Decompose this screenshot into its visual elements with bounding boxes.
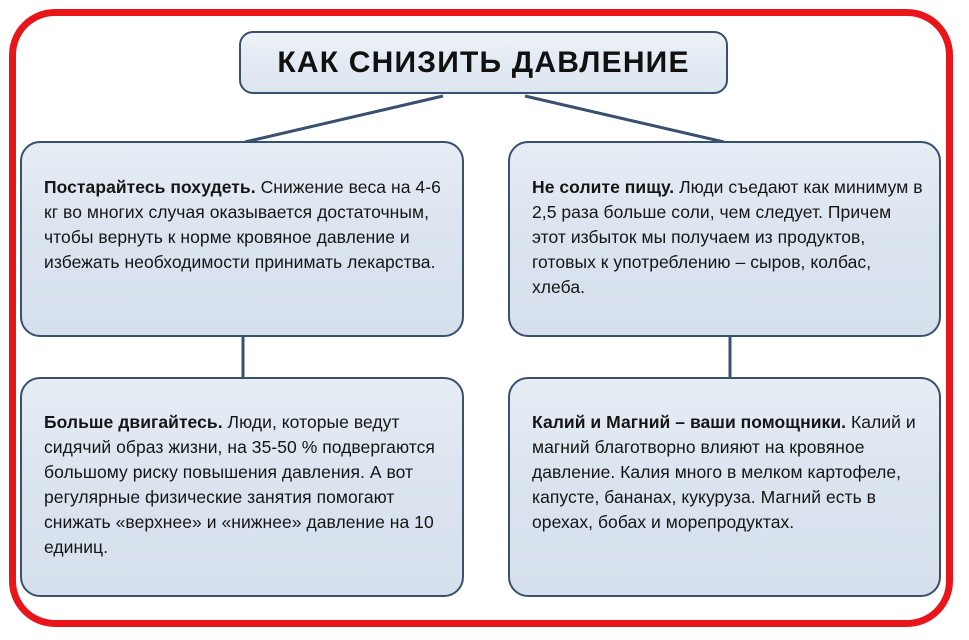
tip-lead: Постарайтесь похудеть.: [44, 177, 256, 197]
infographic-poster: КАК СНИЗИТЬ ДАВЛЕНИЕ Постарайтесь похуде…: [0, 0, 969, 640]
tip-body: Люди, которые ведут сидячий образ жизни,…: [44, 412, 435, 558]
tip-text: Не солите пищу. Люди съедают как минимум…: [532, 175, 923, 301]
tip-text: Больше двигайтесь. Люди, которые ведут с…: [44, 410, 446, 561]
tip-card-potassium-magnesium: Калий и Магний – ваши помощники. Калий и…: [508, 377, 941, 597]
tip-card-move-more: Больше двигайтесь. Люди, которые ведут с…: [20, 377, 464, 597]
tip-card-do-not-salt: Не солите пищу. Люди съедают как минимум…: [508, 141, 941, 337]
tip-text: Постарайтесь похудеть. Снижение веса на …: [44, 175, 446, 276]
tip-lead: Калий и Магний – ваши помощники.: [532, 412, 846, 432]
tip-lead: Больше двигайтесь.: [44, 412, 223, 432]
poster-title: КАК СНИЗИТЬ ДАВЛЕНИЕ: [277, 46, 689, 80]
tip-text: Калий и Магний – ваши помощники. Калий и…: [532, 410, 923, 536]
tip-card-lose-weight: Постарайтесь похудеть. Снижение веса на …: [20, 141, 464, 337]
poster-title-box: КАК СНИЗИТЬ ДАВЛЕНИЕ: [239, 31, 728, 94]
tip-lead: Не солите пищу.: [532, 177, 674, 197]
